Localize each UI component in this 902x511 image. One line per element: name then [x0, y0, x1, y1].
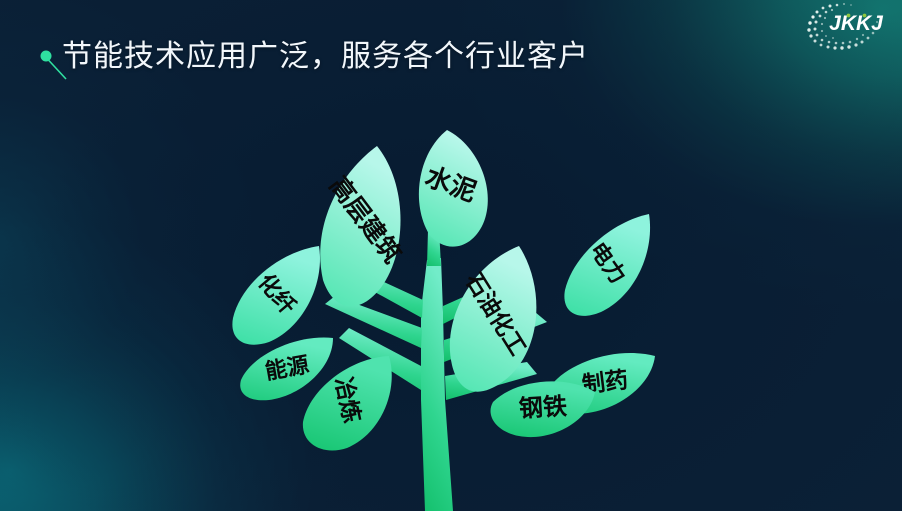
accent-dot-icon [41, 51, 52, 62]
slide-canvas: 节能技术应用广泛，服务各个行业客户 [0, 0, 902, 511]
logo-dot-right-icon [863, 14, 867, 18]
leaf-energy: 能源 [240, 338, 333, 401]
industry-tree-graphic: 水泥 高层建筑 石油化工 电力 化纤 能源 制药 [215, 100, 685, 511]
logo-wordmark-text: JKKJ [829, 12, 884, 35]
page-title: 节能技术应用广泛，服务各个行业客户 [62, 38, 589, 76]
leaf-power: 电力 [564, 214, 650, 316]
logo-dot-left-icon [847, 14, 851, 18]
leaf-high-rise: 高层建筑 [320, 146, 407, 306]
logo-wordmark: JKKJ [829, 12, 884, 35]
leaf-steel-label: 钢铁 [518, 393, 567, 422]
leaf-chemical-fiber: 化纤 [232, 246, 320, 345]
leaf-steel: 钢铁 [491, 381, 595, 437]
leaf-cement: 水泥 [419, 130, 488, 247]
brand-logo: JKKJ [804, 2, 890, 52]
